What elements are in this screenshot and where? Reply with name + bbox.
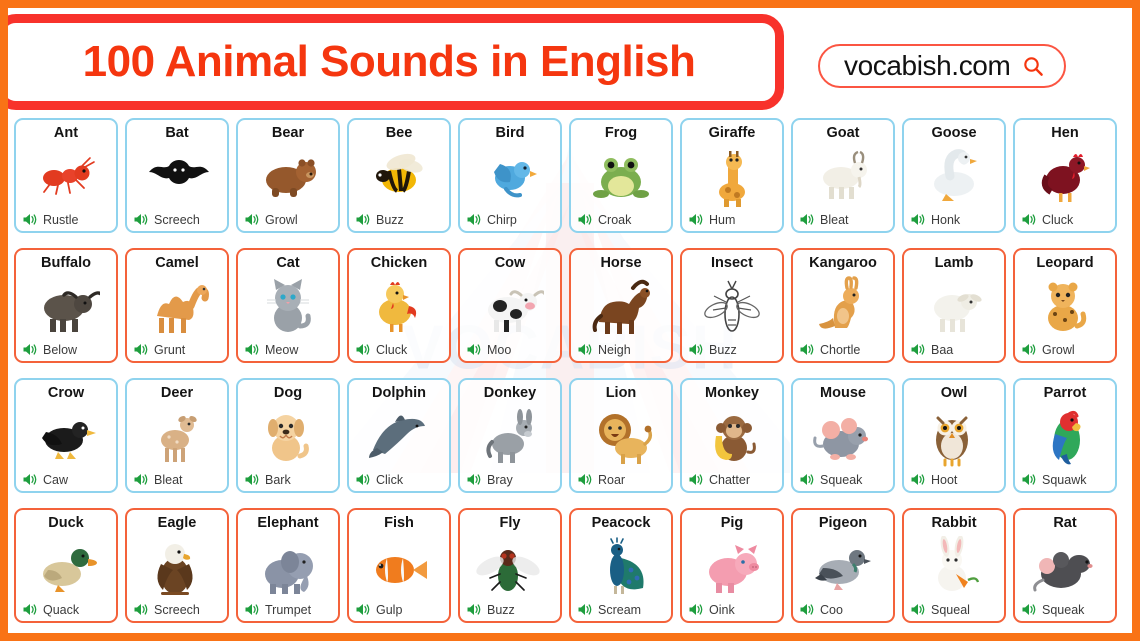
speaker-icon[interactable] xyxy=(577,342,593,357)
animal-card-hen[interactable]: HenCluck xyxy=(1013,118,1117,233)
animal-card-rat[interactable]: RatSqueak xyxy=(1013,508,1117,623)
animal-name: Cow xyxy=(495,256,526,272)
speaker-icon[interactable] xyxy=(22,472,38,487)
poster-header: 100 Animal Sounds in English vocabish.co… xyxy=(8,8,1132,118)
animal-name: Peacock xyxy=(592,516,651,532)
speaker-icon[interactable] xyxy=(22,212,38,227)
animal-card-buffalo[interactable]: BuffaloBelow xyxy=(14,248,118,363)
animal-card-horse[interactable]: HorseNeigh xyxy=(569,248,673,363)
sound-row[interactable]: Squeal xyxy=(908,602,1000,617)
fly-illustration xyxy=(464,532,556,602)
animal-name: Dolphin xyxy=(372,386,426,402)
dolphin-illustration xyxy=(353,402,445,472)
animal-sound: Gulp xyxy=(376,603,402,617)
animal-name: Deer xyxy=(161,386,193,402)
animal-name: Goat xyxy=(826,126,859,142)
animal-name: Lamb xyxy=(935,256,974,272)
speaker-icon[interactable] xyxy=(1021,342,1037,357)
speaker-icon[interactable] xyxy=(910,602,926,617)
sound-row[interactable]: Buzz xyxy=(464,602,556,617)
kangaroo-illustration xyxy=(797,272,889,342)
sound-row[interactable]: Below xyxy=(20,342,112,357)
speaker-icon[interactable] xyxy=(799,602,815,617)
rat-illustration xyxy=(1019,532,1111,602)
dog-illustration xyxy=(242,402,334,472)
bat-illustration xyxy=(131,142,223,212)
animal-card-cow[interactable]: CowMoo xyxy=(458,248,562,363)
animal-name: Lion xyxy=(606,386,637,402)
sound-row[interactable]: Bark xyxy=(242,472,334,487)
animal-card-owl[interactable]: OwlHoot xyxy=(902,378,1006,493)
speaker-icon[interactable] xyxy=(466,602,482,617)
animal-sound: Buzz xyxy=(376,213,404,227)
animal-sound: Below xyxy=(43,343,77,357)
monkey-illustration xyxy=(686,402,778,472)
animal-card-kangaroo[interactable]: KangarooChortle xyxy=(791,248,895,363)
animal-sound: Quack xyxy=(43,603,79,617)
animal-sound: Screech xyxy=(154,213,200,227)
animal-card-duck[interactable]: DuckQuack xyxy=(14,508,118,623)
bird-illustration xyxy=(464,142,556,212)
animal-name: Pig xyxy=(721,516,744,532)
sound-row[interactable]: Meow xyxy=(242,342,334,357)
animal-name: Goose xyxy=(931,126,976,142)
speaker-icon[interactable] xyxy=(355,342,371,357)
animal-card-ant[interactable]: AntRustle xyxy=(14,118,118,233)
animal-sound: Chortle xyxy=(820,343,860,357)
sound-row[interactable]: Hum xyxy=(686,212,778,227)
animal-sound: Chirp xyxy=(487,213,517,227)
speaker-icon[interactable] xyxy=(133,212,149,227)
owl-illustration xyxy=(908,402,1000,472)
fish-illustration xyxy=(353,532,445,602)
pig-illustration xyxy=(686,532,778,602)
animal-card-bear[interactable]: BearGrowl xyxy=(236,118,340,233)
animal-name: Giraffe xyxy=(709,126,756,142)
title-box: 100 Animal Sounds in English xyxy=(0,14,784,110)
animal-card-peacock[interactable]: PeacockScream xyxy=(569,508,673,623)
animal-name: Ant xyxy=(54,126,78,142)
animal-sound: Rustle xyxy=(43,213,78,227)
rabbit-illustration xyxy=(908,532,1000,602)
elephant-illustration xyxy=(242,532,334,602)
bee-illustration xyxy=(353,142,445,212)
speaker-icon[interactable] xyxy=(577,472,593,487)
animal-name: Buffalo xyxy=(41,256,91,272)
sound-row[interactable]: Hoot xyxy=(908,472,1000,487)
speaker-icon[interactable] xyxy=(244,602,260,617)
speaker-icon[interactable] xyxy=(133,342,149,357)
animal-card-dog[interactable]: DogBark xyxy=(236,378,340,493)
speaker-icon[interactable] xyxy=(466,472,482,487)
animal-sound: Chatter xyxy=(709,473,750,487)
sound-row[interactable]: Squeak xyxy=(797,472,889,487)
sound-row[interactable]: Honk xyxy=(908,212,1000,227)
card-row: AntRustleBatScreechBearGrowlBeeBuzzBirdC… xyxy=(14,118,1126,233)
animal-card-mouse[interactable]: MouseSqueak xyxy=(791,378,895,493)
animal-name: Pigeon xyxy=(819,516,867,532)
brand-label: vocabish.com xyxy=(844,50,1010,82)
animal-name: Fish xyxy=(384,516,414,532)
sound-row[interactable]: Chirp xyxy=(464,212,556,227)
sound-row[interactable]: Oink xyxy=(686,602,778,617)
deer-illustration xyxy=(131,402,223,472)
speaker-icon[interactable] xyxy=(688,212,704,227)
animal-sound: Moo xyxy=(487,343,511,357)
card-row: BuffaloBelowCamelGruntCatMeowChickenCluc… xyxy=(14,248,1126,363)
speaker-icon[interactable] xyxy=(799,342,815,357)
animal-name: Chicken xyxy=(371,256,427,272)
sound-row[interactable]: Chatter xyxy=(686,472,778,487)
animal-name: Donkey xyxy=(484,386,536,402)
animal-name: Owl xyxy=(941,386,968,402)
parrot-illustration xyxy=(1019,402,1111,472)
animal-name: Bat xyxy=(165,126,188,142)
animal-name: Crow xyxy=(48,386,84,402)
cat-illustration xyxy=(242,272,334,342)
animal-sound: Hum xyxy=(709,213,735,227)
speaker-icon[interactable] xyxy=(1021,602,1037,617)
animal-card-leopard[interactable]: LeopardGrowl xyxy=(1013,248,1117,363)
donkey-illustration xyxy=(464,402,556,472)
sound-row[interactable]: Screech xyxy=(131,212,223,227)
sound-row[interactable]: Baa xyxy=(908,342,1000,357)
speaker-icon[interactable] xyxy=(466,342,482,357)
buffalo-illustration xyxy=(20,272,112,342)
animal-sound: Squeal xyxy=(931,603,970,617)
animal-card-giraffe[interactable]: GiraffeHum xyxy=(680,118,784,233)
speaker-icon[interactable] xyxy=(910,342,926,357)
animal-sound: Bark xyxy=(265,473,291,487)
animal-card-goat[interactable]: GoatBleat xyxy=(791,118,895,233)
sound-row[interactable]: Click xyxy=(353,472,445,487)
animal-card-lion[interactable]: LionRoar xyxy=(569,378,673,493)
chicken-illustration xyxy=(353,272,445,342)
animal-card-insect[interactable]: InsectBuzz xyxy=(680,248,784,363)
animal-sound: Cluck xyxy=(1042,213,1073,227)
animal-sound: Click xyxy=(376,473,403,487)
animal-sound: Bleat xyxy=(154,473,183,487)
animal-sound: Squeak xyxy=(1042,603,1084,617)
animal-sound: Hoot xyxy=(931,473,957,487)
sound-row[interactable]: Squawk xyxy=(1019,472,1111,487)
animal-name: Bear xyxy=(272,126,304,142)
lamb-illustration xyxy=(908,272,1000,342)
sound-row[interactable]: Chortle xyxy=(797,342,889,357)
animal-name: Hen xyxy=(1051,126,1078,142)
animal-name: Monkey xyxy=(705,386,759,402)
duck-illustration xyxy=(20,532,112,602)
animal-sound: Bray xyxy=(487,473,513,487)
sound-row[interactable]: Growl xyxy=(242,212,334,227)
bear-illustration xyxy=(242,142,334,212)
giraffe-illustration xyxy=(686,142,778,212)
poster-page: VOCABISH 100 Animal Sounds in English vo… xyxy=(0,0,1140,641)
animal-card-dolphin[interactable]: DolphinClick xyxy=(347,378,451,493)
animal-name: Insect xyxy=(711,256,753,272)
animal-name: Bird xyxy=(496,126,525,142)
speaker-icon[interactable] xyxy=(799,472,815,487)
animal-name: Duck xyxy=(48,516,83,532)
animal-card-chicken[interactable]: ChickenCluck xyxy=(347,248,451,363)
animal-name: Rabbit xyxy=(931,516,976,532)
animal-card-parrot[interactable]: ParrotSquawk xyxy=(1013,378,1117,493)
leopard-illustration xyxy=(1019,272,1111,342)
speaker-icon[interactable] xyxy=(244,212,260,227)
animal-sound: Neigh xyxy=(598,343,631,357)
sound-row[interactable]: Growl xyxy=(1019,342,1111,357)
sound-row[interactable]: Rustle xyxy=(20,212,112,227)
speaker-icon[interactable] xyxy=(355,472,371,487)
animal-card-grid: AntRustleBatScreechBearGrowlBeeBuzzBirdC… xyxy=(8,118,1132,623)
sound-row[interactable]: Grunt xyxy=(131,342,223,357)
animal-sound: Coo xyxy=(820,603,843,617)
speaker-icon[interactable] xyxy=(244,472,260,487)
brand-badge[interactable]: vocabish.com xyxy=(818,44,1066,88)
peacock-illustration xyxy=(575,532,667,602)
sound-row[interactable]: Squeak xyxy=(1019,602,1111,617)
animal-card-fish[interactable]: FishGulp xyxy=(347,508,451,623)
animal-sound: Growl xyxy=(1042,343,1075,357)
speaker-icon[interactable] xyxy=(1021,212,1037,227)
animal-sound: Baa xyxy=(931,343,953,357)
animal-name: Horse xyxy=(600,256,641,272)
animal-sound: Squeak xyxy=(820,473,862,487)
horse-illustration xyxy=(575,272,667,342)
animal-card-bird[interactable]: BirdChirp xyxy=(458,118,562,233)
speaker-icon[interactable] xyxy=(1021,472,1037,487)
sound-row[interactable]: Roar xyxy=(575,472,667,487)
sound-row[interactable]: Caw xyxy=(20,472,112,487)
sound-row[interactable]: Cluck xyxy=(353,342,445,357)
animal-name: Kangaroo xyxy=(809,256,877,272)
animal-card-lamb[interactable]: LambBaa xyxy=(902,248,1006,363)
animal-card-bee[interactable]: BeeBuzz xyxy=(347,118,451,233)
speaker-icon[interactable] xyxy=(688,342,704,357)
page-title: 100 Animal Sounds in English xyxy=(83,37,696,87)
speaker-icon[interactable] xyxy=(910,472,926,487)
sound-row[interactable]: Gulp xyxy=(353,602,445,617)
animal-card-donkey[interactable]: DonkeyBray xyxy=(458,378,562,493)
eagle-illustration xyxy=(131,532,223,602)
animal-sound: Roar xyxy=(598,473,625,487)
animal-sound: Screech xyxy=(154,603,200,617)
card-row: DuckQuackEagleScreechElephantTrumpetFish… xyxy=(14,508,1126,623)
animal-card-bat[interactable]: BatScreech xyxy=(125,118,229,233)
animal-card-monkey[interactable]: MonkeyChatter xyxy=(680,378,784,493)
sound-row[interactable]: Moo xyxy=(464,342,556,357)
sound-row[interactable]: Screech xyxy=(131,602,223,617)
animal-card-eagle[interactable]: EagleScreech xyxy=(125,508,229,623)
speaker-icon[interactable] xyxy=(466,212,482,227)
speaker-icon[interactable] xyxy=(244,342,260,357)
lion-illustration xyxy=(575,402,667,472)
animal-name: Dog xyxy=(274,386,302,402)
hen-illustration xyxy=(1019,142,1111,212)
animal-sound: Honk xyxy=(931,213,960,227)
sound-row[interactable]: Bleat xyxy=(797,212,889,227)
camel-illustration xyxy=(131,272,223,342)
animal-name: Rat xyxy=(1053,516,1076,532)
speaker-icon[interactable] xyxy=(355,212,371,227)
animal-name: Eagle xyxy=(158,516,197,532)
animal-card-pig[interactable]: PigOink xyxy=(680,508,784,623)
sound-row[interactable]: Scream xyxy=(575,602,667,617)
animal-sound: Scream xyxy=(598,603,641,617)
speaker-icon[interactable] xyxy=(577,212,593,227)
animal-sound: Bleat xyxy=(820,213,849,227)
animal-sound: Cluck xyxy=(376,343,407,357)
sound-row[interactable]: Buzz xyxy=(686,342,778,357)
animal-sound: Buzz xyxy=(487,603,515,617)
speaker-icon[interactable] xyxy=(577,602,593,617)
animal-card-camel[interactable]: CamelGrunt xyxy=(125,248,229,363)
sound-row[interactable]: Bleat xyxy=(131,472,223,487)
speaker-icon[interactable] xyxy=(799,212,815,227)
search-icon xyxy=(1022,55,1044,77)
animal-card-pigeon[interactable]: PigeonCoo xyxy=(791,508,895,623)
speaker-icon[interactable] xyxy=(688,602,704,617)
crow-illustration xyxy=(20,402,112,472)
animal-sound: Grunt xyxy=(154,343,185,357)
card-row: CrowCawDeerBleatDogBarkDolphinClickDonke… xyxy=(14,378,1126,493)
animal-sound: Squawk xyxy=(1042,473,1086,487)
speaker-icon[interactable] xyxy=(133,472,149,487)
speaker-icon[interactable] xyxy=(22,602,38,617)
goose-illustration xyxy=(908,142,1000,212)
animal-sound: Caw xyxy=(43,473,68,487)
speaker-icon[interactable] xyxy=(133,602,149,617)
animal-card-fly[interactable]: FlyBuzz xyxy=(458,508,562,623)
animal-sound: Growl xyxy=(265,213,298,227)
sound-row[interactable]: Bray xyxy=(464,472,556,487)
goat-illustration xyxy=(797,142,889,212)
animal-sound: Croak xyxy=(598,213,631,227)
speaker-icon[interactable] xyxy=(910,212,926,227)
animal-card-frog[interactable]: FrogCroak xyxy=(569,118,673,233)
sound-row[interactable]: Buzz xyxy=(353,212,445,227)
animal-name: Parrot xyxy=(1044,386,1087,402)
sound-row[interactable]: Croak xyxy=(575,212,667,227)
animal-name: Leopard xyxy=(1036,256,1093,272)
animal-name: Camel xyxy=(155,256,199,272)
cow-illustration xyxy=(464,272,556,342)
sound-row[interactable]: Quack xyxy=(20,602,112,617)
animal-sound: Meow xyxy=(265,343,298,357)
pigeon-illustration xyxy=(797,532,889,602)
sound-row[interactable]: Neigh xyxy=(575,342,667,357)
animal-name: Cat xyxy=(276,256,299,272)
animal-card-deer[interactable]: DeerBleat xyxy=(125,378,229,493)
speaker-icon[interactable] xyxy=(688,472,704,487)
animal-card-goose[interactable]: GooseHonk xyxy=(902,118,1006,233)
sound-row[interactable]: Coo xyxy=(797,602,889,617)
animal-name: Elephant xyxy=(257,516,318,532)
animal-card-elephant[interactable]: ElephantTrumpet xyxy=(236,508,340,623)
frog-illustration xyxy=(575,142,667,212)
insect-illustration xyxy=(686,272,778,342)
animal-card-cat[interactable]: CatMeow xyxy=(236,248,340,363)
animal-sound: Buzz xyxy=(709,343,737,357)
mouse-illustration xyxy=(797,402,889,472)
ant-illustration xyxy=(20,142,112,212)
speaker-icon[interactable] xyxy=(355,602,371,617)
sound-row[interactable]: Trumpet xyxy=(242,602,334,617)
animal-name: Fly xyxy=(500,516,521,532)
sound-row[interactable]: Cluck xyxy=(1019,212,1111,227)
animal-sound: Oink xyxy=(709,603,735,617)
animal-sound: Trumpet xyxy=(265,603,311,617)
animal-card-crow[interactable]: CrowCaw xyxy=(14,378,118,493)
animal-name: Bee xyxy=(386,126,413,142)
speaker-icon[interactable] xyxy=(22,342,38,357)
animal-name: Mouse xyxy=(820,386,866,402)
animal-name: Frog xyxy=(605,126,637,142)
animal-card-rabbit[interactable]: RabbitSqueal xyxy=(902,508,1006,623)
